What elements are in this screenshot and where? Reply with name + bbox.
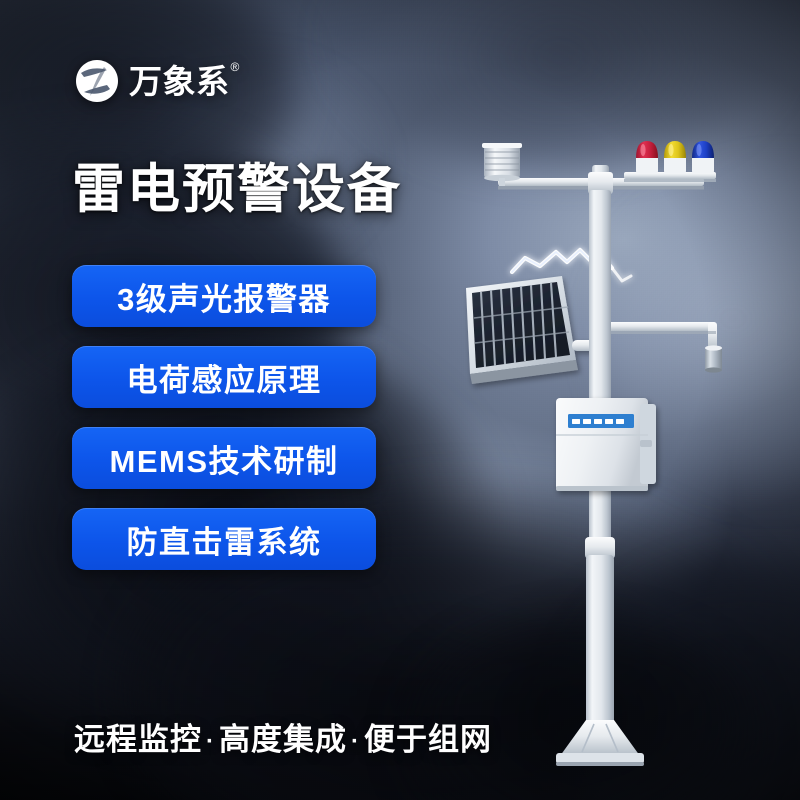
tagline-part-1: 远程监控: [74, 722, 202, 757]
feature-badge-4[interactable]: 防直击雷系统: [72, 508, 376, 570]
tagline-part-3: 便于组网: [364, 722, 492, 757]
tagline-separator-2: ·: [351, 728, 360, 755]
tagline-part-2: 高度集成: [219, 722, 347, 757]
brand-logo: 万象系®: [74, 58, 239, 104]
feature-badge-1[interactable]: 3级声光报警器: [72, 265, 376, 327]
registered-mark: ®: [231, 60, 240, 74]
poster-canvas: 万象系® 雷电预警设备 3级声光报警器 电荷感应原理 MEMS技术研制 防直击雷…: [0, 0, 800, 800]
page-title: 雷电预警设备: [72, 163, 402, 216]
brand-name-wrap: 万象系®: [129, 65, 239, 98]
feature-badge-2[interactable]: 电荷感应原理: [72, 346, 376, 408]
tagline-separator-1: ·: [206, 728, 215, 755]
tagline: 远程监控·高度集成·便于组网: [74, 714, 492, 759]
brand-name: 万象系: [129, 63, 230, 100]
feature-badge-3[interactable]: MEMS技术研制: [72, 427, 376, 489]
feature-badge-list: 3级声光报警器 电荷感应原理 MEMS技术研制 防直击雷系统: [72, 265, 376, 570]
swirl-circle-logo-icon: [74, 58, 120, 104]
